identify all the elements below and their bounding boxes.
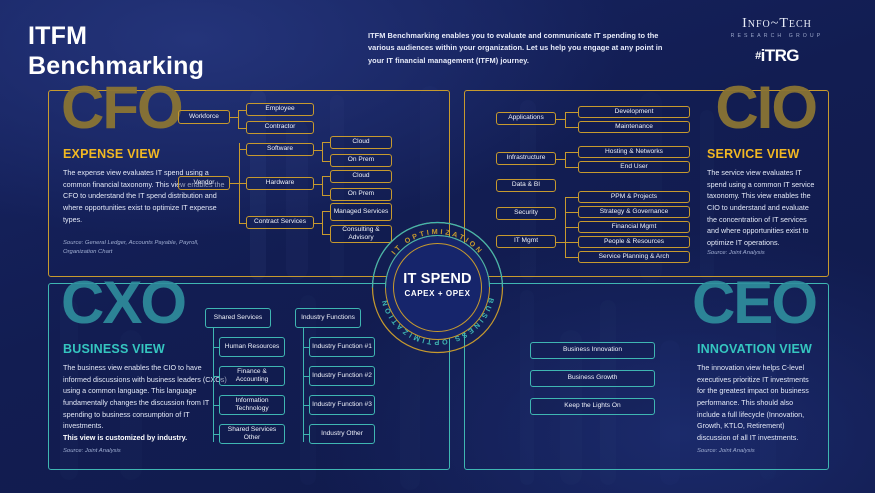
cxo-body-bold: This view is customized by industry. — [63, 432, 231, 444]
cfo-watermark: CFO — [61, 85, 182, 132]
it-spend-hub: IT OPTIMIZATION BUSINESS OPTIMIZATION IT… — [371, 221, 504, 354]
logo-itrg: #iTRG — [697, 46, 857, 66]
page-title-line1: ITFM — [28, 22, 204, 52]
node-development[interactable]: Development — [578, 106, 690, 118]
ceo-heading: INNOVATION VIEW — [697, 342, 812, 356]
node-financial-mgmt[interactable]: Financial Mgmt — [578, 221, 690, 233]
node-software[interactable]: Software — [246, 143, 314, 156]
hub-subtitle: CAPEX + OPEX — [371, 289, 504, 298]
node-security[interactable]: Security — [496, 207, 556, 220]
brand-logo: Info~Tech RESEARCH GROUP #iTRG — [697, 16, 857, 66]
cfo-heading: EXPENSE VIEW — [63, 147, 160, 161]
cxo-watermark: CXO — [61, 280, 185, 327]
cio-source: Source: Joint Analysis — [707, 249, 817, 258]
node-industry-functions[interactable]: Industry Functions — [295, 308, 361, 328]
node-shared-services[interactable]: Shared Services — [205, 308, 271, 328]
node-contract-services[interactable]: Contract Services — [246, 216, 314, 229]
node-data-bi[interactable]: Data & BI — [496, 179, 556, 192]
node-keep-the-lights-on[interactable]: Keep the Lights On — [530, 398, 655, 415]
node-human-resources[interactable]: Human Resources — [219, 337, 285, 357]
node-managed-services[interactable]: Managed Services — [330, 203, 392, 221]
node-hardware-cloud[interactable]: Cloud — [330, 170, 392, 183]
cfo-source: Source: General Ledger, Accounts Payable… — [63, 239, 223, 257]
cxo-body: The business view enables the CIO to hav… — [63, 362, 231, 432]
page-title: ITFM Benchmarking — [28, 22, 204, 81]
ceo-body: The innovation view helps C-level execut… — [697, 362, 817, 444]
cio-body: The service view evaluates IT spend usin… — [707, 167, 817, 249]
ceo-watermark: CEO — [692, 280, 816, 327]
node-information-technology[interactable]: Information Technology — [219, 395, 285, 415]
node-industry-other[interactable]: Industry Other — [309, 424, 375, 444]
node-industry-function-1[interactable]: Industry Function #1 — [309, 337, 375, 357]
node-people-resources[interactable]: People & Resources — [578, 236, 690, 248]
node-business-growth[interactable]: Business Growth — [530, 370, 655, 387]
ceo-source: Source: Joint Analysis — [697, 447, 817, 456]
cio-watermark: CIO — [715, 85, 816, 132]
cxo-heading: BUSINESS VIEW — [63, 342, 165, 356]
logo-tagline: RESEARCH GROUP — [697, 33, 857, 39]
node-maintenance[interactable]: Maintenance — [578, 121, 690, 133]
cio-heading: SERVICE VIEW — [707, 147, 799, 161]
infographic-canvas: ITFM Benchmarking ITFM Benchmarking enab… — [0, 0, 875, 493]
intro-paragraph: ITFM Benchmarking enables you to evaluat… — [368, 30, 668, 67]
hub-title: IT SPEND — [371, 271, 504, 287]
node-applications[interactable]: Applications — [496, 112, 556, 125]
node-infrastructure[interactable]: Infrastructure — [496, 152, 556, 165]
node-industry-function-2[interactable]: Industry Function #2 — [309, 366, 375, 386]
node-hardware[interactable]: Hardware — [246, 177, 314, 190]
node-contractor[interactable]: Contractor — [246, 121, 314, 134]
node-shared-services-other[interactable]: Shared Services Other — [219, 424, 285, 444]
node-it-mgmt[interactable]: IT Mgmt — [496, 235, 556, 248]
node-workforce[interactable]: Workforce — [178, 110, 230, 124]
node-software-cloud[interactable]: Cloud — [330, 136, 392, 149]
logo-wordmark: Info~Tech — [697, 16, 857, 32]
cxo-source: Source: Joint Analysis — [63, 447, 223, 456]
node-service-planning[interactable]: Service Planning & Arch — [578, 251, 690, 263]
node-employee[interactable]: Employee — [246, 103, 314, 116]
hub-label: IT SPEND CAPEX + OPEX — [371, 271, 504, 298]
node-finance-accounting[interactable]: Finance & Accounting — [219, 366, 285, 386]
node-end-user[interactable]: End User — [578, 161, 690, 173]
logo-itrg-text: iTRG — [761, 46, 799, 65]
node-software-onprem[interactable]: On Prem — [330, 154, 392, 167]
node-industry-function-3[interactable]: Industry Function #3 — [309, 395, 375, 415]
node-ppm-projects[interactable]: PPM & Projects — [578, 191, 690, 203]
node-strategy-governance[interactable]: Strategy & Governance — [578, 206, 690, 218]
node-hosting-networks[interactable]: Hosting & Networks — [578, 146, 690, 158]
node-hardware-onprem[interactable]: On Prem — [330, 188, 392, 201]
node-vendor[interactable]: Vendor — [178, 176, 230, 190]
node-business-innovation[interactable]: Business Innovation — [530, 342, 655, 359]
